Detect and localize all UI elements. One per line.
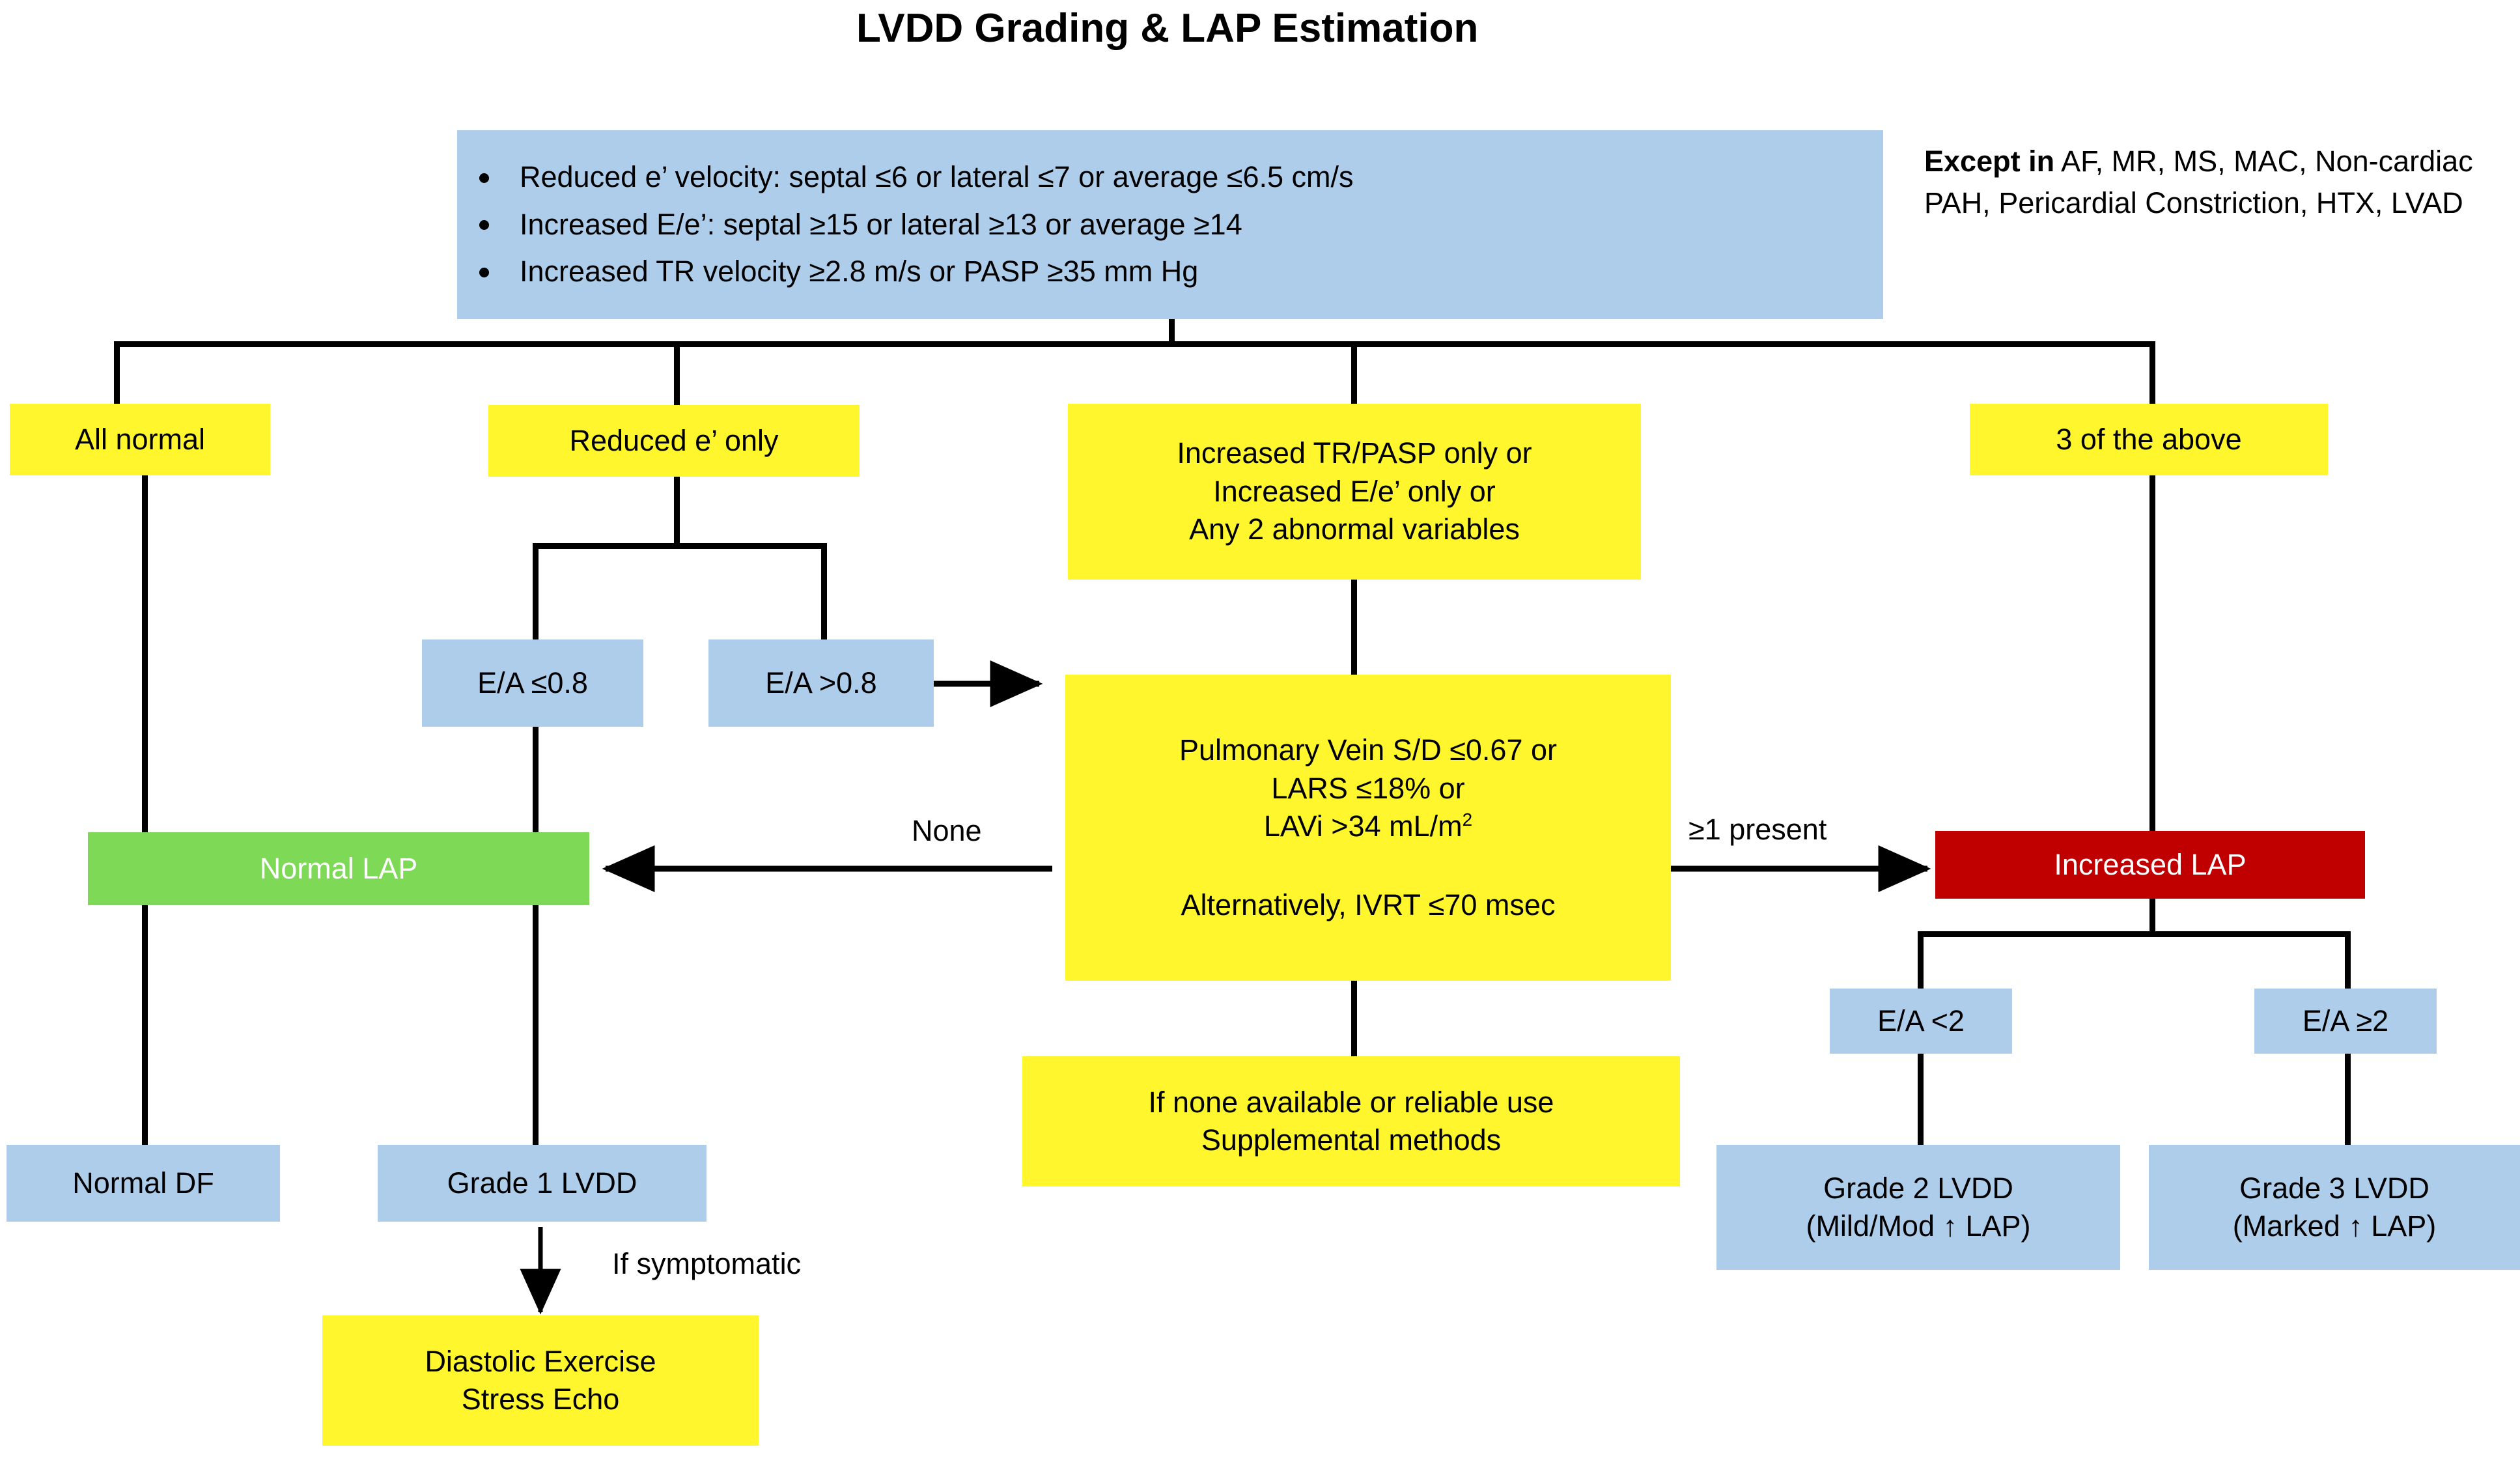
- node-mixed-criteria-label: Increased TR/PASP only or Increased E/e’…: [1177, 434, 1532, 549]
- node-normal-df-label: Normal DF: [72, 1164, 214, 1203]
- criteria-bullet-3: Increased TR velocity ≥2.8 m/s or PASP ≥…: [520, 253, 1354, 291]
- connector-increasedlap-split-bar: [1918, 931, 2351, 937]
- connector-main-bus: [114, 341, 2155, 347]
- page-title: LVDD Grading & LAP Estimation: [856, 5, 1478, 51]
- node-increased-lap-label: Increased LAP: [2054, 846, 2246, 884]
- supplemental-line-2: LARS ≤18% or: [1271, 770, 1464, 808]
- connector-mixed-to-supplemental: [1351, 578, 1357, 676]
- node-ea-lt-2-label: E/A <2: [1877, 1002, 1965, 1041]
- stress-echo-line-2: Stress Echo: [462, 1381, 620, 1419]
- node-ea-ge-2[interactable]: E/A ≥2: [2254, 989, 2437, 1054]
- grade-2-line-2: (Mild/Mod ↑ LAP): [1806, 1207, 2030, 1246]
- node-increased-lap[interactable]: Increased LAP: [1935, 831, 2365, 899]
- connector-increasedlap-right-leg: [2345, 931, 2351, 994]
- exception-note: Except in AF, MR, MS, MAC, Non-cardiac P…: [1924, 141, 2510, 224]
- supplemental-line-4: Alternatively, IVRT ≤70 msec: [1181, 886, 1556, 925]
- node-ea-gt-08-label: E/A >0.8: [765, 664, 876, 703]
- stress-echo-line-1: Diastolic Exercise: [425, 1343, 656, 1381]
- node-fallback-methods[interactable]: If none available or reliable use Supple…: [1022, 1056, 1680, 1187]
- node-ea-gt-08[interactable]: E/A >0.8: [708, 639, 934, 727]
- node-three-of-above[interactable]: 3 of the above: [1970, 404, 2328, 475]
- node-three-of-above-label: 3 of the above: [2056, 421, 2241, 459]
- connector-reduced-right-leg: [821, 543, 827, 641]
- node-reduced-e-only-label: Reduced e’ only: [569, 422, 778, 460]
- supplemental-line-3: LAVi >34 mL/m2: [1264, 808, 1472, 846]
- exception-note-lead: Except in: [1924, 145, 2054, 178]
- connector-reduced-stem: [674, 475, 680, 548]
- connector-ea-lt2-to-grade2: [1918, 1054, 1924, 1146]
- connector-reduced-left-leg: [533, 543, 539, 641]
- node-normal-lap-label: Normal LAP: [260, 850, 418, 888]
- fallback-line-1: If none available or reliable use: [1149, 1084, 1554, 1122]
- supplemental-line-3-text: LAVi >34 mL/m: [1264, 809, 1463, 843]
- connector-bus-drop-2: [674, 341, 680, 406]
- node-grade-2-lvdd[interactable]: Grade 2 LVDD (Mild/Mod ↑ LAP): [1716, 1145, 2120, 1270]
- connector-reduced-split-bar: [533, 543, 827, 549]
- node-mixed-criteria[interactable]: Increased TR/PASP only or Increased E/e’…: [1068, 404, 1641, 580]
- node-grade-1-lvdd-label: Grade 1 LVDD: [447, 1164, 637, 1203]
- connector-ea-low-spine: [533, 727, 539, 1146]
- fallback-line-2: Supplemental methods: [1201, 1121, 1501, 1160]
- node-diastolic-stress-echo[interactable]: Diastolic Exercise Stress Echo: [322, 1315, 759, 1446]
- node-supplemental-criteria[interactable]: Pulmonary Vein S/D ≤0.67 or LARS ≤18% or…: [1065, 675, 1671, 981]
- edge-label-if-symptomatic: If symptomatic: [612, 1247, 801, 1281]
- node-all-normal-label: All normal: [75, 421, 205, 459]
- supplemental-line-1: Pulmonary Vein S/D ≤0.67 or: [1179, 731, 1557, 770]
- node-all-normal[interactable]: All normal: [10, 404, 270, 475]
- node-grade-1-lvdd[interactable]: Grade 1 LVDD: [378, 1145, 707, 1222]
- criteria-bullet-1: Reduced e’ velocity: septal ≤6 or latera…: [520, 158, 1354, 197]
- flowchart-canvas: LVDD Grading & LAP Estimation: [0, 0, 2520, 1475]
- connector-bus-drop-1: [114, 341, 120, 406]
- edge-label-none: None: [912, 814, 982, 848]
- edge-label-one-present: ≥1 present: [1688, 813, 1827, 847]
- node-normal-df[interactable]: Normal DF: [7, 1145, 280, 1222]
- connector-bus-drop-3: [1351, 341, 1357, 406]
- node-ea-ge-2-label: E/A ≥2: [2303, 1002, 2388, 1041]
- connector-all-normal-spine: [142, 404, 148, 1146]
- node-ea-lt-2[interactable]: E/A <2: [1830, 989, 2012, 1054]
- supplemental-line-3-superscript: 2: [1463, 809, 1473, 830]
- connector-ea-ge2-to-grade3: [2345, 1054, 2351, 1146]
- grade-3-line-1: Grade 3 LVDD: [2239, 1170, 2429, 1208]
- connector-bus-drop-4: [2149, 341, 2155, 406]
- connector-increasedlap-left-leg: [1918, 931, 1924, 994]
- connector-supplemental-to-fallback: [1351, 979, 1357, 1059]
- node-ea-le-08[interactable]: E/A ≤0.8: [422, 639, 643, 727]
- node-normal-lap[interactable]: Normal LAP: [88, 832, 589, 905]
- criteria-box: Reduced e’ velocity: septal ≤6 or latera…: [457, 130, 1883, 319]
- node-ea-le-08-label: E/A ≤0.8: [477, 664, 588, 703]
- connector-increasedlap-stem: [2149, 897, 2155, 935]
- criteria-bullet-2: Increased E/e’: septal ≥15 or lateral ≥1…: [520, 206, 1354, 244]
- grade-2-line-1: Grade 2 LVDD: [1823, 1170, 2013, 1208]
- node-reduced-e-only[interactable]: Reduced e’ only: [488, 405, 860, 477]
- node-grade-3-lvdd[interactable]: Grade 3 LVDD (Marked ↑ LAP): [2149, 1145, 2520, 1270]
- grade-3-line-2: (Marked ↑ LAP): [2233, 1207, 2437, 1246]
